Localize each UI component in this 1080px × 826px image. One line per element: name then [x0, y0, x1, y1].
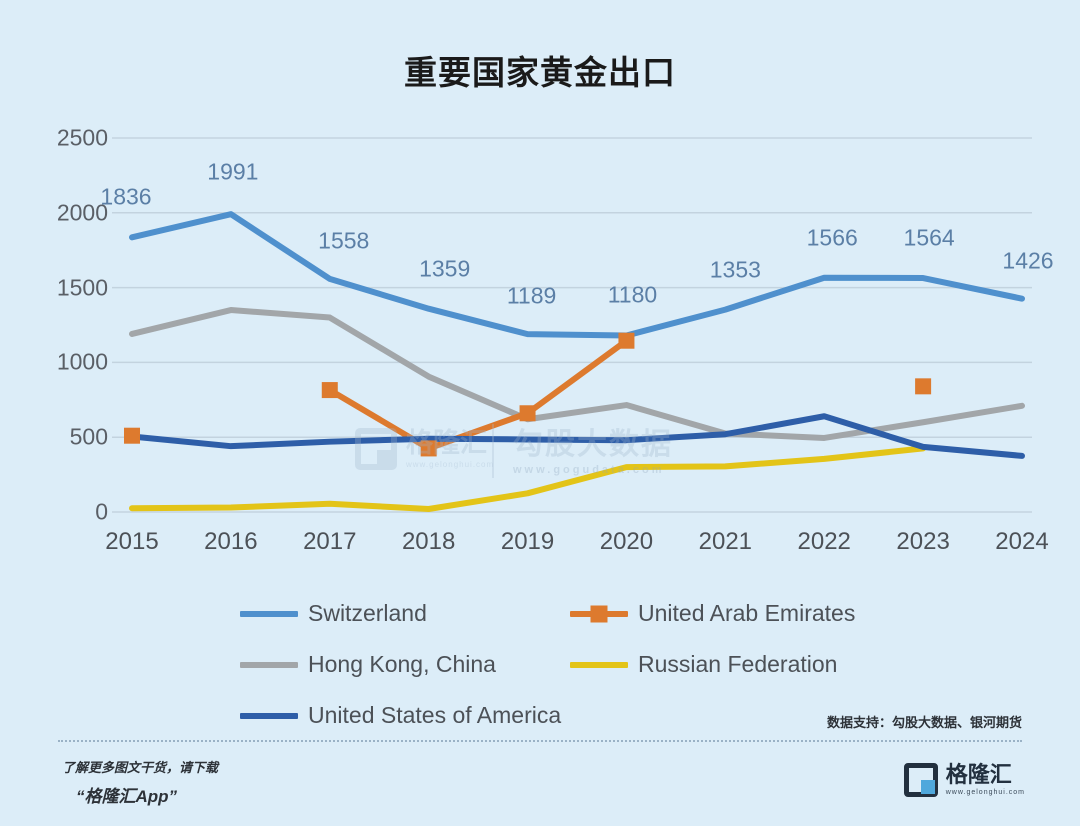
series-marker — [618, 333, 634, 349]
data-label: 1353 — [710, 256, 761, 283]
series-line — [330, 341, 627, 449]
promo-line-1: 了解更多图文干货，请下载 — [62, 757, 218, 776]
y-axis-tick: 1500 — [28, 274, 108, 301]
legend-label: Russian Federation — [638, 651, 837, 678]
data-label: 1180 — [608, 282, 657, 309]
chart-page: 重要国家黄金出口 05001000150020002500 2015201620… — [0, 0, 1080, 826]
y-axis-tick: 500 — [28, 424, 108, 451]
series-marker — [915, 378, 931, 394]
legend-row: SwitzerlandUnited Arab Emirates — [240, 588, 880, 639]
x-axis-tick: 2020 — [571, 528, 681, 556]
data-label: 1564 — [904, 225, 955, 252]
legend-swatch-icon — [240, 611, 298, 617]
data-label: 1991 — [207, 159, 258, 186]
legend-row: Hong Kong, ChinaRussian Federation — [240, 639, 880, 690]
data-label: 1189 — [507, 283, 556, 310]
legend-row: United States of America — [240, 690, 880, 741]
legend-label: United Arab Emirates — [638, 600, 855, 627]
x-axis-tick: 2023 — [868, 528, 978, 556]
y-axis-tick: 1000 — [28, 349, 108, 376]
x-axis-tick: 2021 — [670, 528, 780, 556]
series-line — [132, 214, 1022, 335]
x-axis-tick: 2018 — [374, 528, 484, 556]
series-marker — [322, 382, 338, 398]
data-label: 1836 — [100, 184, 151, 211]
legend-item[interactable]: United Arab Emirates — [570, 588, 855, 639]
source-credit: 数据支持：勾股大数据、银河期货 — [827, 712, 1022, 731]
legend-item[interactable]: Switzerland — [240, 588, 427, 639]
series-marker — [421, 440, 437, 456]
legend-swatch-icon — [240, 662, 298, 668]
footer-logo-url: www.gelonghui.com — [946, 789, 1025, 796]
footer-divider — [58, 740, 1022, 742]
y-axis-tick: 2500 — [28, 125, 108, 152]
y-axis-labels: 05001000150020002500 — [28, 0, 108, 600]
gelonghui-logo-icon — [904, 763, 938, 797]
y-axis-tick: 2000 — [28, 199, 108, 226]
x-axis-tick: 2015 — [77, 528, 187, 556]
legend-swatch-icon — [240, 713, 298, 719]
data-label: 1558 — [318, 227, 369, 254]
series-line — [132, 448, 923, 509]
promo-line-2: “格隆汇App” — [76, 782, 218, 807]
x-axis-tick: 2017 — [275, 528, 385, 556]
legend-item[interactable]: United States of America — [240, 690, 561, 741]
footer-logo: 格隆汇 www.gelonghui.com — [904, 763, 1025, 797]
y-axis-tick: 0 — [28, 499, 108, 526]
x-axis-labels: 2015201620172018201920202021202220232024 — [0, 528, 1080, 568]
legend-label: Switzerland — [308, 600, 427, 627]
series-marker — [124, 428, 140, 444]
data-label: 1359 — [419, 255, 470, 282]
data-label: 1426 — [1002, 247, 1053, 274]
legend-item[interactable]: Hong Kong, China — [240, 639, 496, 690]
data-label: 1566 — [807, 224, 858, 251]
legend-label: United States of America — [308, 702, 561, 729]
x-axis-tick: 2016 — [176, 528, 286, 556]
series-lines — [132, 214, 1022, 509]
x-axis-tick: 2022 — [769, 528, 879, 556]
x-axis-tick: 2024 — [967, 528, 1077, 556]
footer-logo-name: 格隆汇 — [946, 764, 1025, 786]
legend-label: Hong Kong, China — [308, 651, 496, 678]
footer-promo: 了解更多图文干货，请下载 “格隆汇App” — [62, 757, 218, 807]
x-axis-tick: 2019 — [473, 528, 583, 556]
series-marker — [520, 405, 536, 421]
legend-swatch-icon — [570, 611, 628, 617]
chart-legend: SwitzerlandUnited Arab EmiratesHong Kong… — [240, 588, 880, 741]
legend-item[interactable]: Russian Federation — [570, 639, 837, 690]
watermark-divider — [492, 424, 494, 478]
legend-swatch-icon — [570, 662, 628, 668]
gridlines — [112, 138, 1032, 512]
